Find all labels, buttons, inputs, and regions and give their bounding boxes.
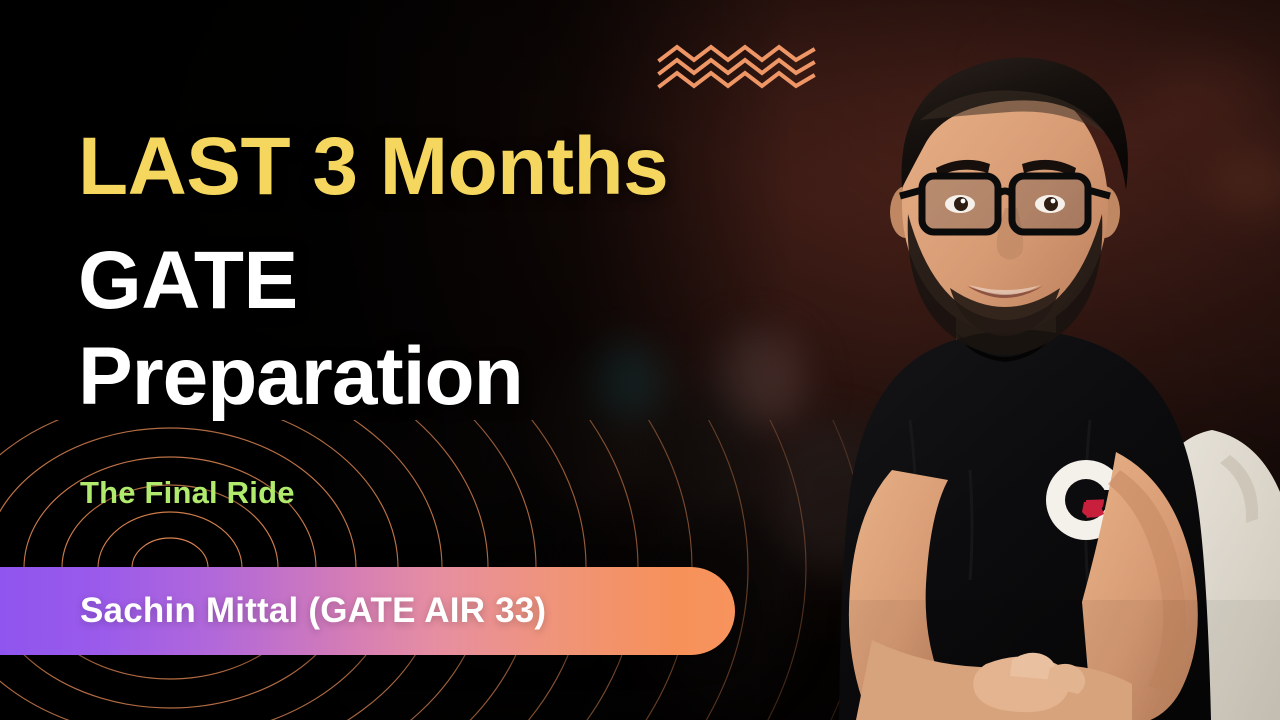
thumbnail-canvas: LAST 3 Months GATE Preparation The Final… <box>0 0 1280 720</box>
headline-line-3: Preparation <box>78 336 898 418</box>
headline-block: LAST 3 Months GATE Preparation <box>78 126 898 418</box>
headline-line-1: LAST 3 Months <box>78 126 898 208</box>
tagline: The Final Ride <box>80 475 295 511</box>
speaker-banner: Sachin Mittal (GATE AIR 33) <box>0 567 735 655</box>
speaker-banner-label: Sachin Mittal (GATE AIR 33) <box>80 591 546 631</box>
headline-line-2: GATE <box>78 240 898 322</box>
head <box>890 57 1128 355</box>
